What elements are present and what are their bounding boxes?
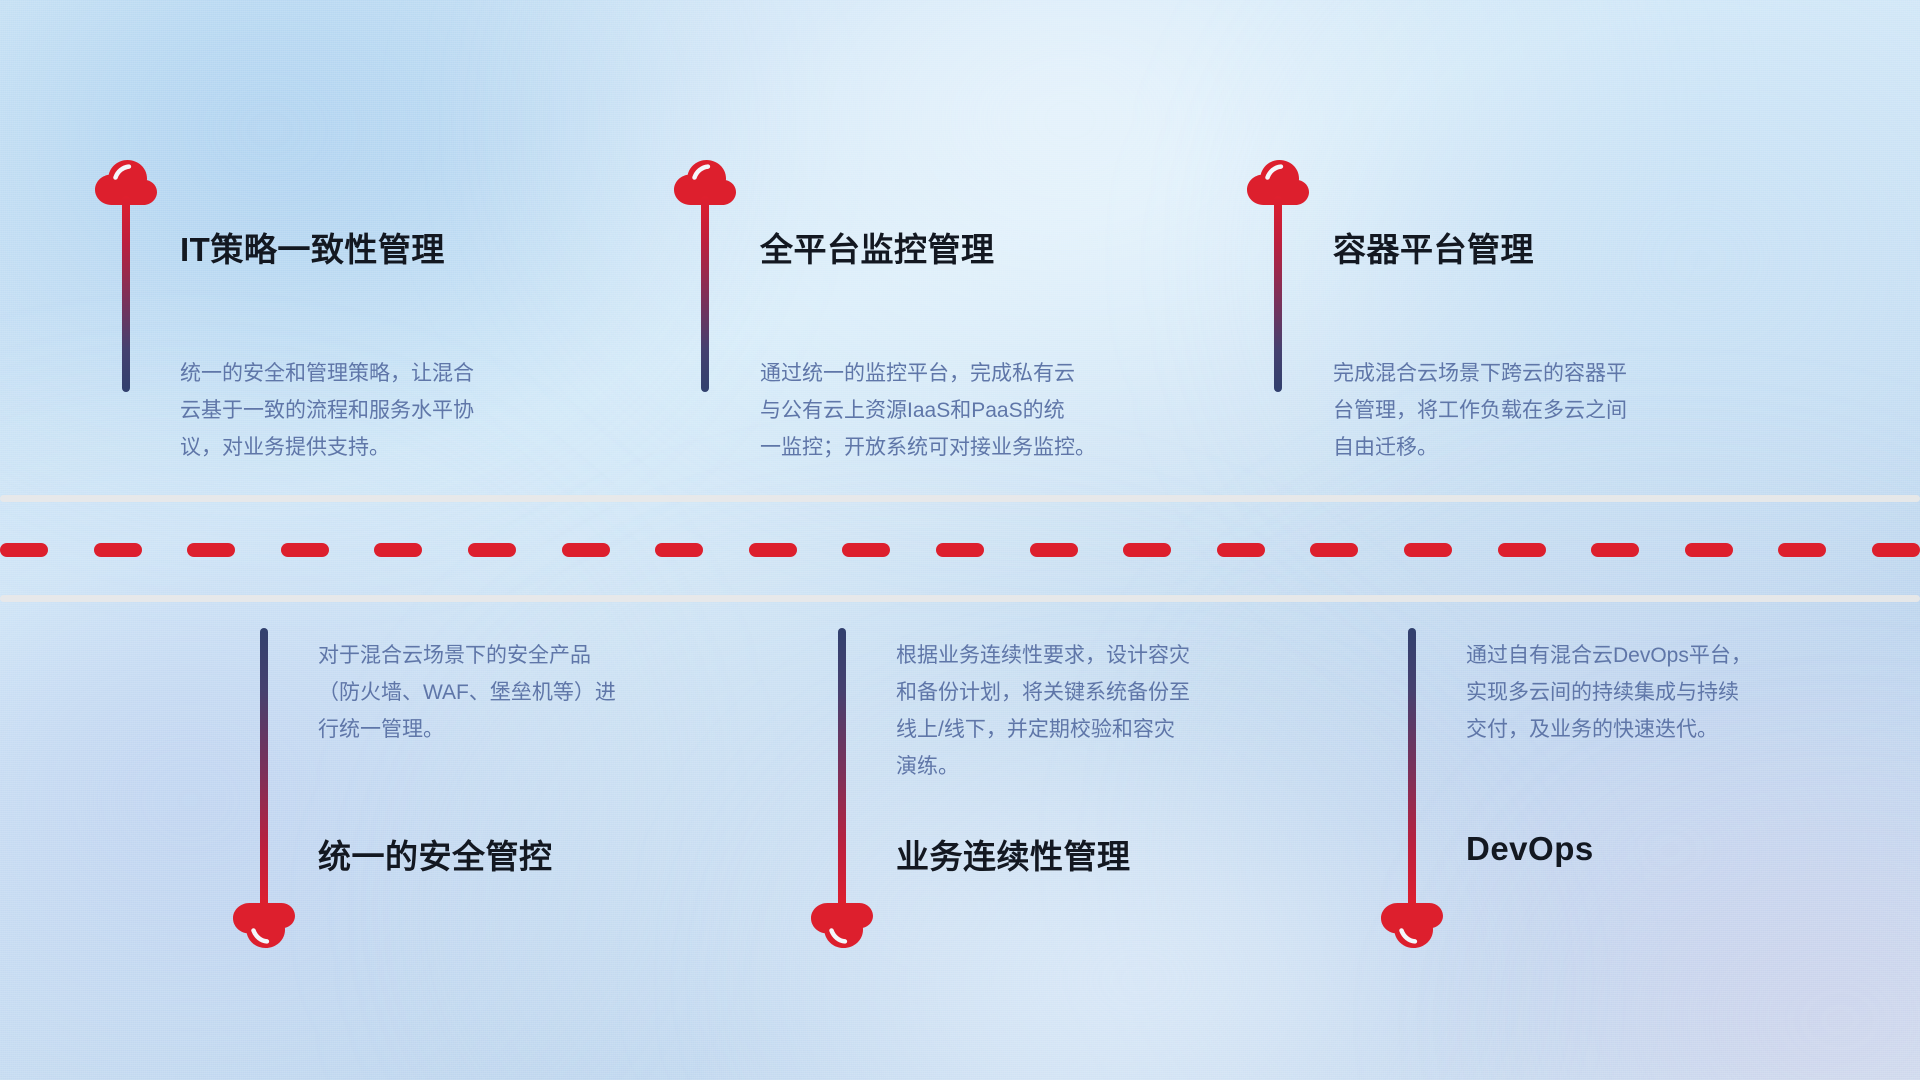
body-line: 交付，及业务的快速迭代。	[1466, 711, 1811, 748]
card-body: 通过统一的监控平台，完成私有云 与公有云上资源IaaS和PaaS的统 一监控；开…	[760, 355, 1130, 466]
dash-segment	[1217, 543, 1265, 557]
dash-segment	[0, 543, 48, 557]
dash-segment	[281, 543, 329, 557]
body-line: 线上/线下，并定期校验和容灾	[896, 711, 1241, 748]
body-line: 通过自有混合云DevOps平台，	[1466, 637, 1811, 674]
body-line: 演练。	[896, 748, 1241, 785]
body-line: 对于混合云场景下的安全产品	[318, 637, 663, 674]
dash-segment	[1310, 543, 1358, 557]
body-line: 自由迁移。	[1333, 429, 1678, 466]
body-line: 行统一管理。	[318, 711, 663, 748]
body-line: 完成混合云场景下跨云的容器平	[1333, 355, 1678, 392]
body-line: 统一的安全和管理策略，让混合	[180, 355, 525, 392]
card-body: 通过自有混合云DevOps平台， 实现多云间的持续集成与持续 交付，及业务的快速…	[1466, 637, 1811, 748]
dash-segment	[1030, 543, 1078, 557]
body-line: 实现多云间的持续集成与持续	[1466, 674, 1811, 711]
cloud-icon	[811, 902, 873, 948]
dashed-divider	[0, 543, 1920, 557]
body-line: 通过统一的监控平台，完成私有云	[760, 355, 1130, 392]
dash-segment	[1591, 543, 1639, 557]
body-line: 与公有云上资源IaaS和PaaS的统	[760, 392, 1130, 429]
divider-line-upper	[0, 495, 1920, 502]
card-body: 完成混合云场景下跨云的容器平 台管理，将工作负载在多云之间 自由迁移。	[1333, 355, 1678, 466]
cloud-icon	[233, 902, 295, 948]
divider-line-lower	[0, 595, 1920, 602]
dash-segment	[749, 543, 797, 557]
card-heading: 全平台监控管理	[760, 223, 995, 271]
dash-segment	[1404, 543, 1452, 557]
body-line: （防火墙、WAF、堡垒机等）进	[318, 674, 663, 711]
dash-segment	[374, 543, 422, 557]
card-heading: 容器平台管理	[1333, 223, 1534, 271]
body-line: 和备份计划，将关键系统备份至	[896, 674, 1241, 711]
card-body: 对于混合云场景下的安全产品 （防火墙、WAF、堡垒机等）进 行统一管理。	[318, 637, 663, 748]
dash-segment	[1778, 543, 1826, 557]
body-line: 根据业务连续性要求，设计容灾	[896, 637, 1241, 674]
card-heading: 统一的安全管控	[318, 830, 553, 878]
dash-segment	[562, 543, 610, 557]
body-line: 云基于一致的流程和服务水平协	[180, 392, 525, 429]
dash-segment	[468, 543, 516, 557]
body-line: 台管理，将工作负载在多云之间	[1333, 392, 1678, 429]
dash-segment	[1498, 543, 1546, 557]
pin-stem	[838, 628, 846, 908]
infographic-canvas: IT策略一致性管理 统一的安全和管理策略，让混合 云基于一致的流程和服务水平协 …	[0, 0, 1920, 1080]
dash-segment	[655, 543, 703, 557]
pin-stem	[260, 628, 268, 908]
card-body: 统一的安全和管理策略，让混合 云基于一致的流程和服务水平协 议，对业务提供支持。	[180, 355, 525, 466]
dash-segment	[1872, 543, 1920, 557]
pin-stem	[1274, 196, 1282, 392]
card-heading: DevOps	[1466, 830, 1594, 868]
dash-segment	[1123, 543, 1171, 557]
dash-segment	[936, 543, 984, 557]
dash-segment	[187, 543, 235, 557]
body-line: 议，对业务提供支持。	[180, 429, 525, 466]
pin-stem	[701, 196, 709, 392]
body-line: 一监控；开放系统可对接业务监控。	[760, 429, 1130, 466]
cloud-icon	[1381, 902, 1443, 948]
pin-stem	[122, 196, 130, 392]
pin-stem	[1408, 628, 1416, 908]
dash-segment	[94, 543, 142, 557]
dash-segment	[1685, 543, 1733, 557]
card-body: 根据业务连续性要求，设计容灾 和备份计划，将关键系统备份至 线上/线下，并定期校…	[896, 637, 1241, 785]
card-heading: 业务连续性管理	[896, 830, 1131, 878]
dash-segment	[842, 543, 890, 557]
card-heading: IT策略一致性管理	[180, 223, 445, 271]
